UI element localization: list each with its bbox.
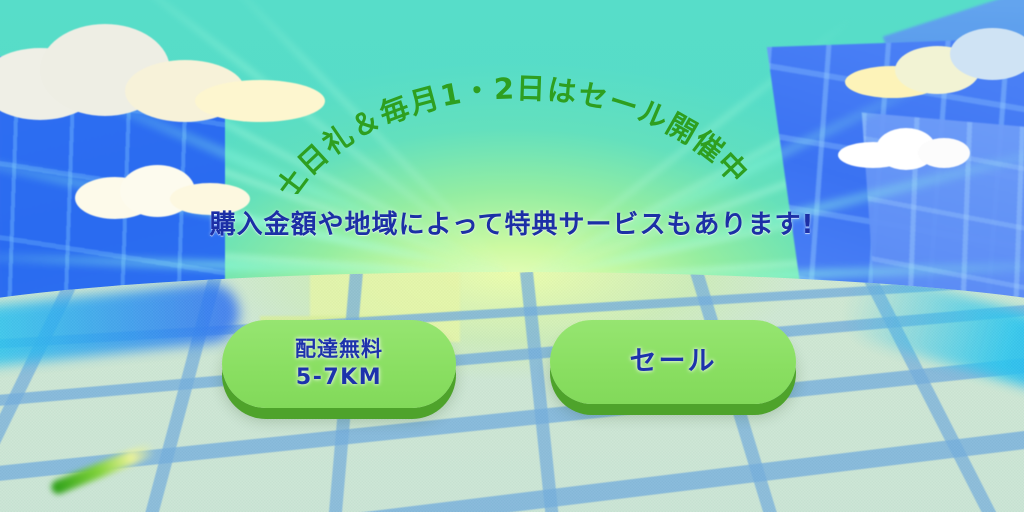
arc-headline-text: 土日礼＆毎月1・2日はセール開催中! <box>0 14 755 194</box>
sale-button[interactable]: セール <box>550 320 796 404</box>
promo-banner: 土日礼＆毎月1・2日はセール開催中! 購入金額や地域によって特典サービスもありま… <box>0 0 1024 512</box>
arc-headline: 土日礼＆毎月1・2日はセール開催中! <box>0 14 1024 194</box>
delivery-button-label: 配達無料 <box>295 335 383 363</box>
delivery-button-distance: 5-7KM <box>296 363 382 393</box>
delivery-free-button[interactable]: 配達無料 5-7KM <box>222 320 456 408</box>
subtitle-text: 購入金額や地域によって特典サービスもあります! <box>0 204 1024 241</box>
svg-text:土日礼＆毎月1・2日はセール開催中!: 土日礼＆毎月1・2日はセール開催中! <box>0 14 755 194</box>
sale-button-label: セール <box>630 344 717 380</box>
city-map-ground <box>0 272 1024 512</box>
